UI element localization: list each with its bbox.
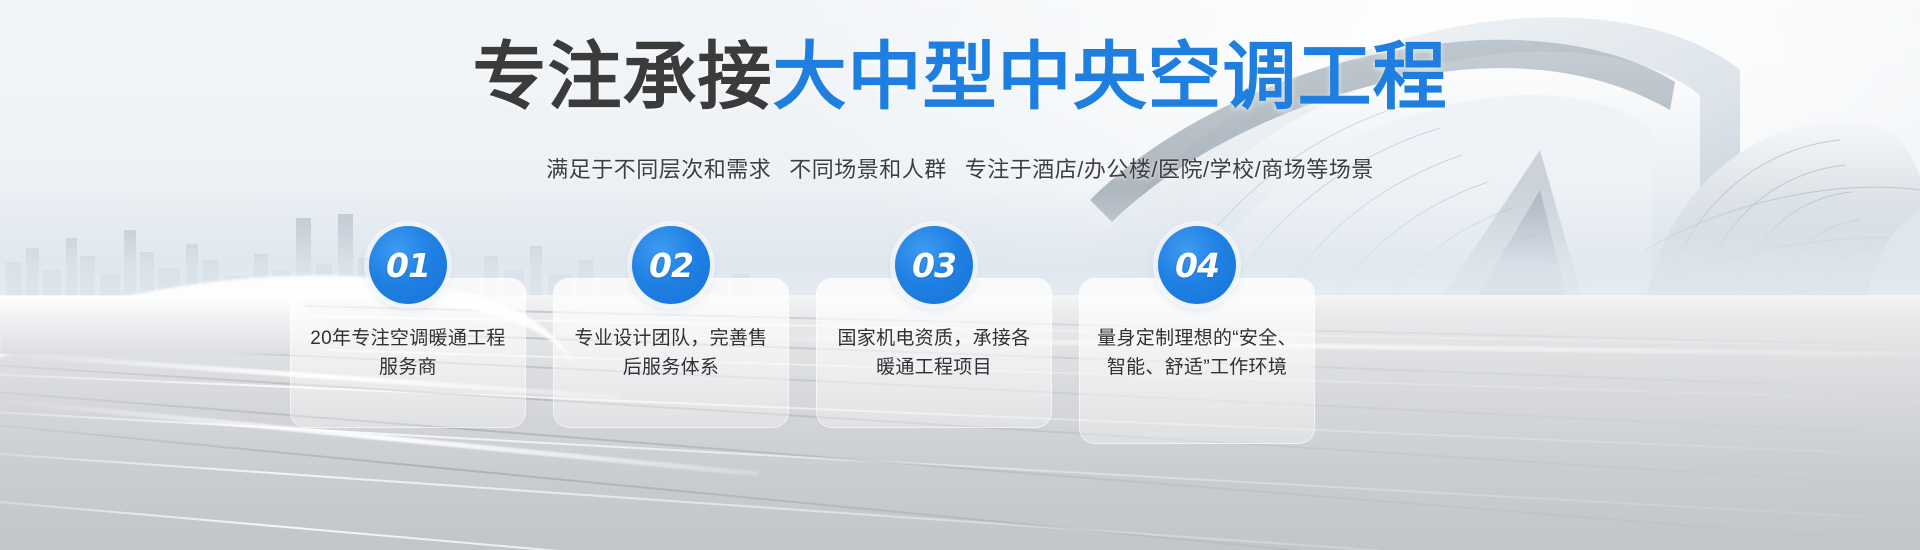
feature-card[interactable]: 04 量身定制理想的“安全、智能、舒适”工作环境 — [1079, 278, 1315, 444]
hero-banner: 专注承接大中型中央空调工程 满足于不同层次和需求不同场景和人群专注于酒店/办公楼… — [0, 0, 1920, 550]
guard-rail — [0, 296, 330, 354]
step-number-label: 04 — [1175, 249, 1219, 282]
feature-card-text: 20年专注空调暖通工程服务商 — [290, 324, 526, 383]
feature-card[interactable]: 03 国家机电资质，承接各暖通工程项目 — [816, 278, 1052, 428]
subtitle-part-3: 专注于酒店/办公楼/医院/学校/商场等场景 — [965, 157, 1374, 182]
step-number-badge: 01 — [369, 226, 447, 304]
headline-blue-text: 大中型中央空调工程 — [773, 34, 1448, 120]
step-number-label: 02 — [649, 249, 693, 282]
headline-dark-text: 专注承接 — [473, 34, 773, 120]
feature-card-text: 量身定制理想的“安全、智能、舒适”工作环境 — [1079, 324, 1315, 383]
step-number-label: 01 — [386, 249, 430, 282]
subtitle-part-2: 不同场景和人群 — [789, 157, 947, 182]
feature-card-list: 01 20年专注空调暖通工程服务商 02 专业设计团队，完善售后服务体系 03 … — [290, 278, 1315, 444]
step-number-label: 03 — [912, 249, 956, 282]
feature-card-text: 专业设计团队，完善售后服务体系 — [553, 324, 789, 383]
step-number-badge: 03 — [895, 226, 973, 304]
page-title: 专注承接大中型中央空调工程 — [0, 40, 1920, 114]
step-number-badge: 04 — [1158, 226, 1236, 304]
step-number-badge: 02 — [632, 226, 710, 304]
feature-card[interactable]: 02 专业设计团队，完善售后服务体系 — [553, 278, 789, 428]
page-subtitle: 满足于不同层次和需求不同场景和人群专注于酒店/办公楼/医院/学校/商场等场景 — [0, 152, 1920, 184]
subtitle-part-1: 满足于不同层次和需求 — [546, 157, 771, 182]
feature-card[interactable]: 01 20年专注空调暖通工程服务商 — [290, 278, 526, 428]
feature-card-text: 国家机电资质，承接各暖通工程项目 — [816, 324, 1052, 383]
